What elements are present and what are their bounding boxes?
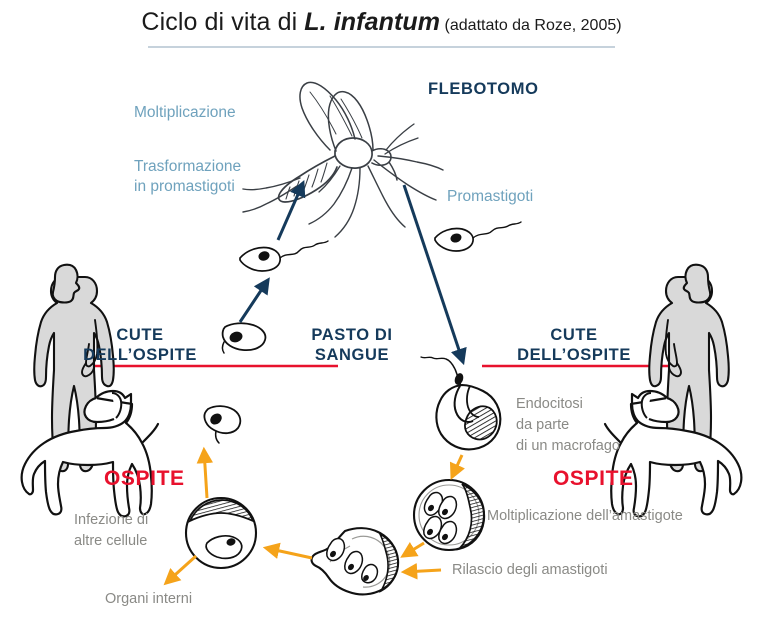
macrophage-icon [421, 357, 500, 449]
label-endocitosi-line1: Endocitosi [516, 396, 583, 414]
label-infezione-altre-cellule-line1: Infezione di [74, 512, 148, 530]
label-flebotomo: FLEBOTOMO [428, 79, 539, 99]
promastigote-icon [240, 241, 328, 271]
label-moltiplicazione-amastigote: Moltiplicazione dell’amastigote [487, 508, 683, 526]
label-cute-ospite-left-line2: DELL’OSPITE [78, 345, 202, 365]
arrow-release-label [404, 570, 441, 572]
label-cute-ospite-left-line1: CUTE [78, 325, 202, 345]
label-trasformazione-line2: in promastigoti [134, 178, 235, 197]
label-moltiplicazione: Moltiplicazione [134, 104, 236, 123]
arrow-to-multiplication [452, 455, 462, 477]
dog-silhouette-icon [22, 391, 158, 516]
label-trasformazione-line1: Trasformazione [134, 158, 241, 177]
label-endocitosi-line3: di un macrofago [516, 438, 620, 456]
label-ospite-right: OSPITE [553, 466, 634, 492]
dog-silhouette-icon [605, 391, 741, 516]
label-promastigoti: Promastigoti [447, 188, 533, 207]
amastigote-icon [223, 323, 266, 353]
promastigote-icon [435, 222, 521, 251]
ruptured-cell-icon [312, 528, 399, 594]
label-endocitosi-line2: da parte [516, 417, 569, 435]
arrow-to-release [403, 543, 424, 556]
label-infezione-altre-cellule-line2: altre cellule [74, 533, 147, 551]
arrow-to-infection [266, 548, 312, 558]
label-pasto-sangue-line2: SANGUE [288, 345, 416, 365]
label-ospite-left: OSPITE [104, 466, 185, 492]
amastigote-icon [204, 406, 240, 443]
label-cute-ospite-right-line2: DELL’OSPITE [508, 345, 640, 365]
life-cycle-diagram: Ciclo di vita di L. infantum (adattato d… [0, 0, 763, 628]
label-cute-ospite-right-line1: CUTE [508, 325, 640, 345]
arrow-transformation [240, 280, 268, 322]
label-pasto-sangue-line1: PASTO DI [288, 325, 416, 345]
label-rilascio-amastigoti: Rilascio degli amastigoti [452, 562, 608, 580]
arrow-to-internal-organs [166, 556, 196, 583]
arrow-to-free-amastigote [204, 450, 207, 498]
macrophage-icon [414, 480, 484, 550]
label-organi-interni: Organi interni [105, 591, 192, 609]
